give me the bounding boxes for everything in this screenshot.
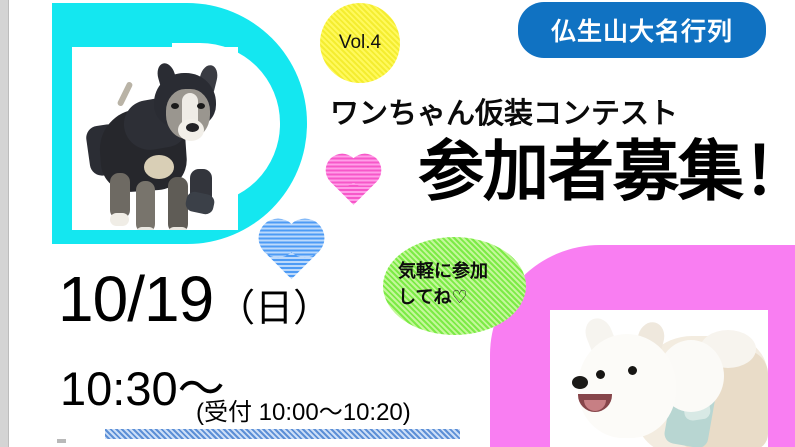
pomeranian-dog-photo [550, 310, 768, 447]
ninja-dog-eye [197, 103, 205, 109]
pomeranian-head [578, 334, 676, 438]
speech-bubble-text: 気軽に参加 してね♡ [398, 258, 488, 310]
subheading-text: ワンちゃん仮装コンテスト [330, 90, 678, 132]
event-badge-label: 仏生山大名行列 [551, 12, 733, 48]
ninja-dog-stick [117, 81, 134, 107]
event-date-value: 10/19 [58, 263, 213, 335]
blue-striped-divider [105, 429, 460, 439]
main-heading-text: 参加者募集！ [418, 138, 795, 204]
ninja-dog-paw [110, 213, 129, 226]
event-reception-time: (受付 10:00〜10:20) [196, 392, 411, 427]
corner-artifact [57, 439, 66, 443]
ninja-dog-paw [136, 227, 155, 230]
heart-pink-icon [330, 158, 377, 205]
pomeranian-eye [628, 366, 637, 375]
pomeranian-nose [572, 376, 588, 389]
volume-badge: Vol.4 [320, 3, 400, 83]
speech-bubble-line-1: 気軽に参加 [398, 258, 488, 284]
ninja-dog-nose [186, 123, 199, 132]
pomeranian-eye [596, 370, 605, 379]
ninja-dog-leg [136, 181, 155, 230]
event-date: 10/19（日） [58, 262, 331, 336]
ninja-dog-chest [144, 155, 174, 179]
event-badge: 仏生山大名行列 [518, 2, 766, 58]
ninja-dog-photo [72, 47, 238, 230]
poster-canvas: 仏生山大名行列 Vol.4 ワンちゃん仮装コンテスト 参加者募集！ 気軽に参加 … [0, 0, 795, 447]
ninja-dog-illustration [82, 69, 232, 230]
ninja-dog-eye [171, 103, 179, 109]
ninja-dog-paw [168, 227, 188, 230]
event-weekday-value: （日） [217, 288, 331, 330]
speech-bubble-line-2: してね♡ [398, 284, 488, 310]
slide-left-gutter [0, 0, 9, 447]
volume-badge-label: Vol.4 [339, 32, 381, 54]
